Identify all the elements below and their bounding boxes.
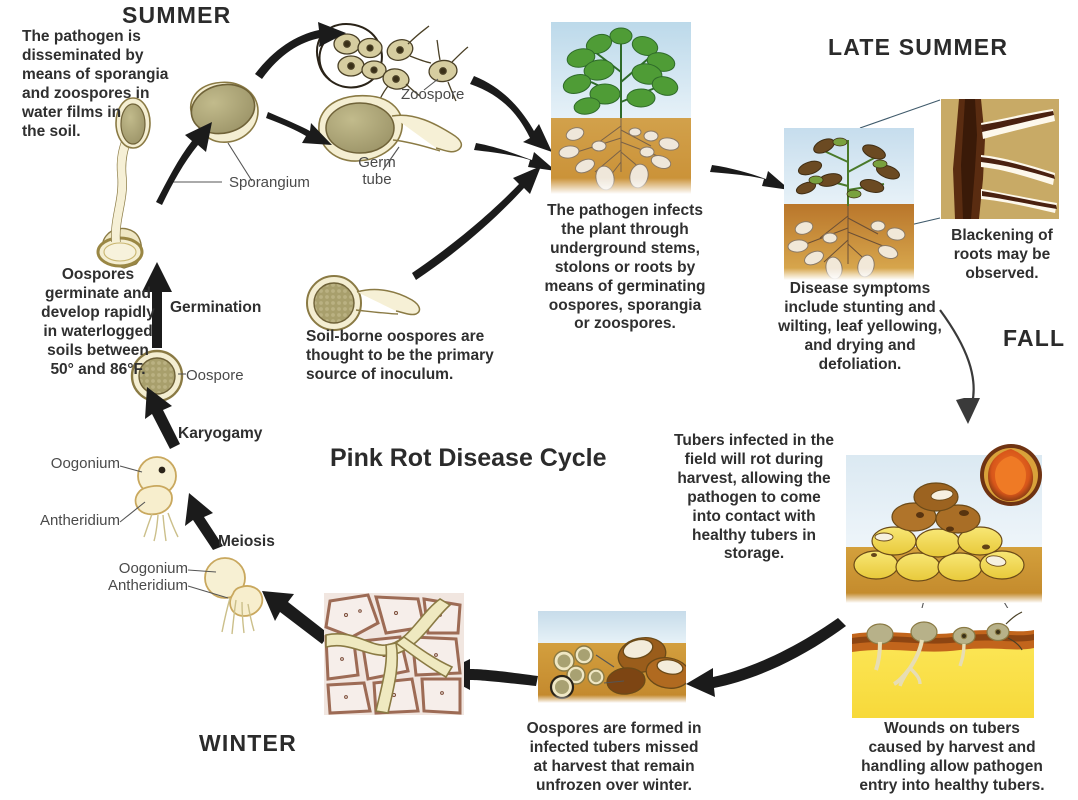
season-label-fall: FALL (1003, 325, 1065, 352)
blackened-root-inset-image (941, 99, 1059, 219)
season-label-winter: WINTER (199, 730, 297, 757)
part-label-antheridium-upper: Antheridium (10, 512, 120, 529)
season-label-late-summer: LATE SUMMER (828, 34, 1008, 61)
stage-label-meiosis: Meiosis (218, 533, 275, 551)
pink-rot-disease-cycle-diagram: SUMMER LATE SUMMER FALL WINTER Pink Rot … (0, 0, 1078, 800)
callout-infection: The pathogen infects the plant through u… (529, 202, 721, 334)
callout-oospore-germination: Oospores germinate and develop rapidly i… (22, 266, 174, 379)
stage-label-germination: Germination (170, 299, 261, 317)
callout-winter-oospores: Oospores are formed in infected tubers m… (508, 720, 720, 796)
callout-wounds: Wounds on tubers caused by harvest and h… (846, 720, 1058, 796)
diseased-potato-plant-image (784, 128, 914, 280)
healthy-potato-plant-image (551, 22, 691, 194)
part-label-oogonium-upper: Oogonium (30, 455, 120, 472)
part-label-sporangium: Sporangium (229, 174, 310, 191)
part-label-antheridium-lower: Antheridium (68, 577, 188, 594)
callout-blackening-roots: Blackening of roots may be observed. (939, 227, 1065, 284)
part-label-oospore: Oospore (186, 367, 244, 384)
hyphae-in-tuber-tissue-image (324, 593, 464, 715)
part-label-oogonium-lower: Oogonium (78, 560, 188, 577)
oospores-in-tuber-image (538, 611, 686, 703)
callout-storage: Tubers infected in the field will rot du… (666, 432, 842, 564)
part-label-zoospore: Zoospore (401, 86, 464, 103)
stage-label-karyogamy: Karyogamy (178, 425, 262, 443)
season-label-summer: SUMMER (122, 2, 231, 29)
callout-disease-symptoms: Disease symptoms include stunting and wi… (768, 280, 952, 375)
callout-soil-borne-oospores: Soil-borne oospores are thought to be th… (306, 328, 526, 385)
pink-rot-cross-section-image (978, 442, 1044, 508)
tuber-wound-infection-image (852, 608, 1034, 718)
callout-dissemination: The pathogen is disseminated by means of… (22, 28, 190, 141)
part-label-germ-tube: Germ tube (346, 154, 408, 189)
diagram-title: Pink Rot Disease Cycle (330, 444, 607, 473)
